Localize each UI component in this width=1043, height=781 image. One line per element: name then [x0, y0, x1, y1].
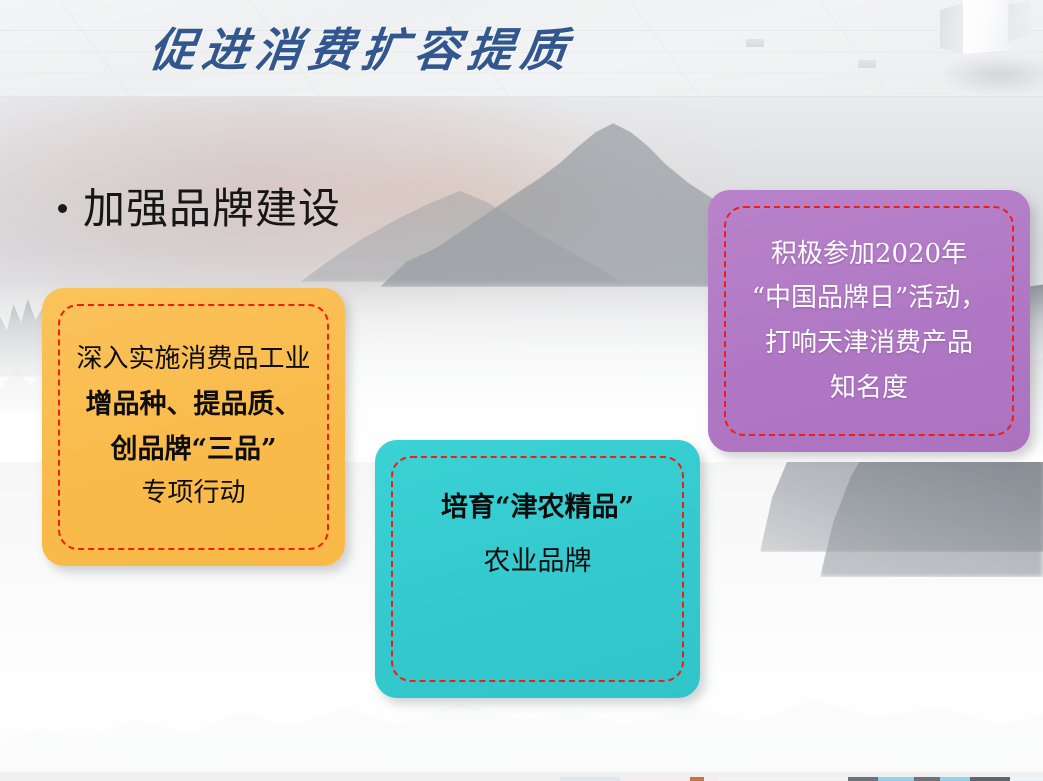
clipped-taskbar-strip[interactable] [0, 772, 1043, 781]
presentation-slide: 促进消费扩容提质 加强品牌建设 深入实施消费品工业 增品种、提品质、 创品牌“三… [0, 0, 1043, 781]
card-china-brand-day-2020[interactable]: 积极参加2020年 “中国品牌日”活动， 打响天津消费产品 知名度 [708, 190, 1030, 452]
white-3d-card-block-left-face [940, 3, 964, 55]
white-3d-card-block-icon [963, 0, 1009, 54]
taskbar-segment [848, 777, 878, 781]
card-text-purple: 积极参加2020年 “中国品牌日”活动， 打响天津消费产品 知名度 [708, 232, 1030, 411]
small-block-marker-icon [746, 39, 764, 47]
card-line: “中国品牌日”活动， [720, 276, 1018, 321]
card-line: 增品种、提品质、 [54, 382, 333, 427]
bullet-heading-label: 加强品牌建设 [83, 175, 341, 236]
taskbar-segment [970, 777, 1010, 781]
slide-title: 促进消费扩容提质 [146, 14, 578, 80]
taskbar-segment [878, 777, 914, 781]
card-line: 农业品牌 [387, 535, 688, 589]
card-consumer-goods-industry[interactable]: 深入实施消费品工业 增品种、提品质、 创品牌“三品” 专项行动 [42, 288, 345, 566]
card-text-orange: 深入实施消费品工业 增品种、提品质、 创品牌“三品” 专项行动 [42, 338, 345, 516]
taskbar-segment [690, 777, 704, 781]
card-line: 积极参加2020年 [720, 232, 1018, 277]
taskbar-segment [940, 777, 970, 781]
card-line: 知名度 [720, 366, 1018, 411]
taskbar-segment [560, 777, 620, 781]
taskbar-segment [1010, 777, 1043, 781]
card-jinnong-premium-agriculture[interactable]: 培育“津农精品” 农业品牌 [375, 440, 700, 698]
card-line: 专项行动 [54, 472, 333, 516]
slide-header: 促进消费扩容提质 [0, 0, 1043, 97]
card-text-teal: 培育“津农精品” 农业品牌 [375, 481, 700, 589]
card-line: 深入实施消费品工业 [54, 338, 333, 382]
white-card-block-shadow [940, 55, 1043, 95]
small-block-marker-icon [858, 60, 876, 68]
bullet-dot-icon [58, 204, 67, 213]
taskbar-segment [914, 777, 940, 781]
card-line: 创品牌“三品” [54, 427, 333, 472]
card-line: 打响天津消费产品 [720, 321, 1018, 366]
taskbar-segment [718, 777, 848, 781]
card-line: 培育“津农精品” [387, 481, 688, 535]
bullet-heading-row: 加强品牌建设 [58, 175, 341, 236]
